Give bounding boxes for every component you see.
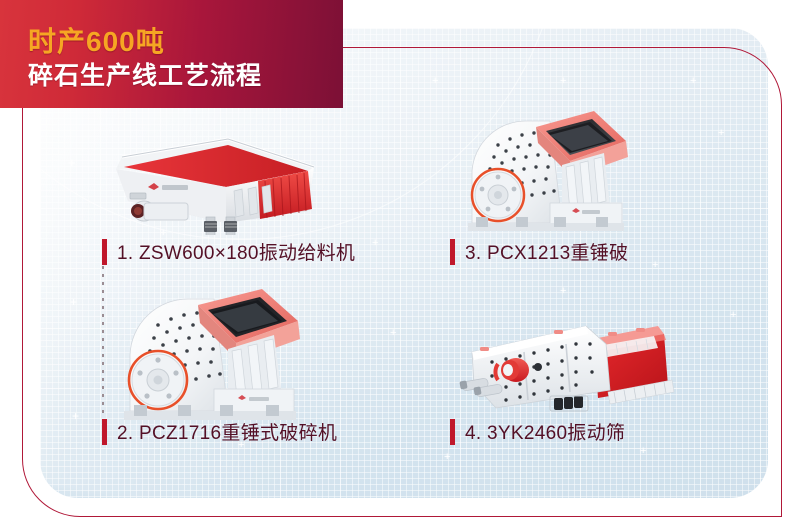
item-4-accent-bar bbox=[450, 419, 455, 445]
item-4-label-text: 4. 3YK2460振动筛 bbox=[465, 418, 625, 445]
hammer-crusher-icon bbox=[454, 105, 664, 240]
banner-title-line2: 碎石生产线工艺流程 bbox=[28, 56, 262, 92]
item-2-heavy-hammer-crusher[interactable]: 2. PCZ1716重锤式破碎机 bbox=[100, 285, 410, 445]
vibrating-feeder-icon bbox=[108, 125, 348, 235]
item-2-accent-bar bbox=[102, 419, 107, 445]
item-1-vibrating-feeder[interactable]: 1. ZSW600×180振动给料机 bbox=[100, 125, 400, 265]
hammer-crusher-image bbox=[454, 105, 664, 240]
heavy-hammer-crusher-image bbox=[110, 285, 340, 425]
item-1-accent-bar bbox=[102, 239, 107, 265]
poster-stage: 时产600吨 碎石生产线工艺流程 bbox=[0, 0, 800, 530]
item-1-label: 1. ZSW600×180振动给料机 bbox=[102, 238, 355, 265]
vibrating-screen-image bbox=[458, 304, 708, 416]
heavy-hammer-crusher-icon bbox=[110, 285, 340, 425]
item-2-label-text: 2. PCZ1716重锤式破碎机 bbox=[117, 418, 337, 445]
banner-title-line1: 时产600吨 bbox=[28, 20, 165, 60]
header-banner: 时产600吨 碎石生产线工艺流程 bbox=[0, 0, 343, 108]
item-3-label-text: 3. PCX1213重锤破 bbox=[465, 238, 628, 265]
item-4-vibrating-screen[interactable]: 4. 3YK2460振动筛 bbox=[448, 300, 758, 445]
item-2-label: 2. PCZ1716重锤式破碎机 bbox=[102, 418, 337, 445]
vibrating-feeder-image bbox=[108, 125, 348, 235]
item-1-label-text: 1. ZSW600×180振动给料机 bbox=[117, 238, 355, 265]
item-4-label: 4. 3YK2460振动筛 bbox=[450, 418, 625, 445]
item-3-accent-bar bbox=[450, 239, 455, 265]
vibrating-screen-icon bbox=[458, 304, 708, 416]
item-3-hammer-crusher[interactable]: 3. PCX1213重锤破 bbox=[448, 105, 748, 265]
item-3-label: 3. PCX1213重锤破 bbox=[450, 238, 628, 265]
